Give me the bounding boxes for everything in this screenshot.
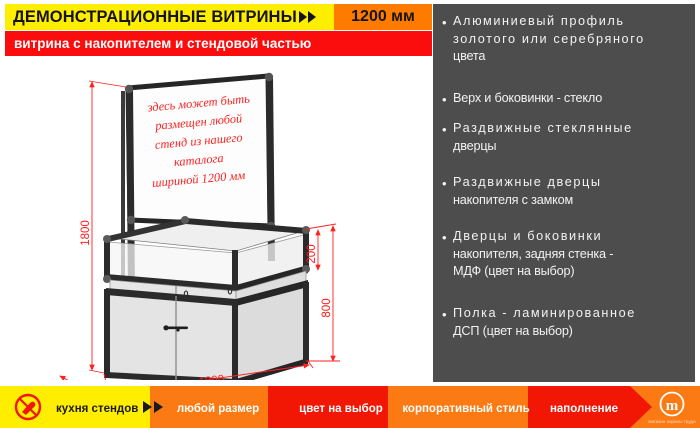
slide-root: ДЕМОНСТРАЦИОННЫЕ ВИТРИНЫ 1200 мм витрина… <box>0 0 700 428</box>
feature-line: накопителя с замком <box>453 192 602 210</box>
bullet-icon: • <box>442 90 453 108</box>
product-drawing: здесь может быть размещен любой стенд из… <box>0 58 432 380</box>
bullet-icon: • <box>442 13 453 66</box>
feature-line: Дверцы и боковинки <box>453 228 613 246</box>
banner-label-0: кухня стендов <box>56 403 138 415</box>
features-sidebar: •Алюминиевый профильзолотого или серебря… <box>433 4 695 382</box>
logo-caption: магазин охраны труда <box>648 419 696 424</box>
feature-text: Алюминиевый профильзолотого или серебрян… <box>453 13 645 66</box>
banner-label-3: корпоративный стиль <box>402 403 529 415</box>
svg-text:200: 200 <box>306 244 318 263</box>
feature-line: Раздвижные стеклянные <box>453 120 633 138</box>
feature-item: •Полка - ламинированноеДСП (цвет на выбо… <box>433 305 700 340</box>
banner-label-2: цвет на выбор <box>299 403 383 415</box>
feature-line: Полка - ламинированное <box>453 305 636 323</box>
feature-item: •Верх и боковинки - стекло <box>433 90 700 108</box>
board-text: здесь может быть размещен любой стенд из… <box>146 92 251 191</box>
feature-item: •Дверцы и боковинкинакопителя, задняя ст… <box>433 228 700 281</box>
bottom-banner: кухня стендов любой размер цвет на выбор… <box>0 386 700 428</box>
page-title: ДЕМОНСТРАЦИОННЫЕ ВИТРИНЫ <box>5 8 297 27</box>
feature-line: МДФ (цвет на выбор) <box>453 263 613 281</box>
size-badge: 1200 мм <box>334 4 432 30</box>
header: ДЕМОНСТРАЦИОННЫЕ ВИТРИНЫ 1200 мм витрина… <box>5 4 432 56</box>
bullet-icon: • <box>442 305 453 340</box>
bullet-icon: • <box>442 174 453 209</box>
feature-line: накопителя, задняя стенка - <box>453 246 613 264</box>
feature-line: ДСП (цвет на выбор) <box>453 323 636 341</box>
feature-text: Полка - ламинированноеДСП (цвет на выбор… <box>453 305 636 340</box>
feature-line: золотого или серебряного <box>453 31 645 49</box>
feature-item: •Алюминиевый профильзолотого или серебря… <box>433 13 700 66</box>
feature-text: Раздвижные стеклянныедверцы <box>453 120 633 155</box>
feature-line: Алюминиевый профиль <box>453 13 645 31</box>
banner-label-1: любой размер <box>177 403 259 415</box>
svg-text:1800: 1800 <box>80 220 92 246</box>
header-subtitle-bar: витрина с накопителем и стендовой частью <box>5 31 432 56</box>
feature-text: Верх и боковинки - стекло <box>453 90 602 108</box>
feature-text: Раздвижные дверцынакопителя с замком <box>453 174 602 209</box>
feature-item: •Раздвижные стеклянныедверцы <box>433 120 700 155</box>
bullet-icon: • <box>442 120 453 155</box>
logo-mark: m <box>666 398 679 414</box>
feature-line: Раздвижные дверцы <box>453 174 602 192</box>
bullet-icon: • <box>442 228 453 281</box>
page-subtitle: витрина с накопителем и стендовой частью <box>5 36 311 51</box>
feature-line: цвета <box>453 48 645 66</box>
double-triangle-right-icon <box>299 11 316 23</box>
banner-label-4: наполнение <box>550 403 618 415</box>
feature-line: дверцы <box>453 138 633 156</box>
feature-text: Дверцы и боковинкинакопителя, задняя сте… <box>453 228 613 281</box>
svg-text:800: 800 <box>321 298 333 317</box>
feature-line: Верх и боковинки - стекло <box>453 90 602 108</box>
feature-item: •Раздвижные дверцынакопителя с замком <box>433 174 700 209</box>
